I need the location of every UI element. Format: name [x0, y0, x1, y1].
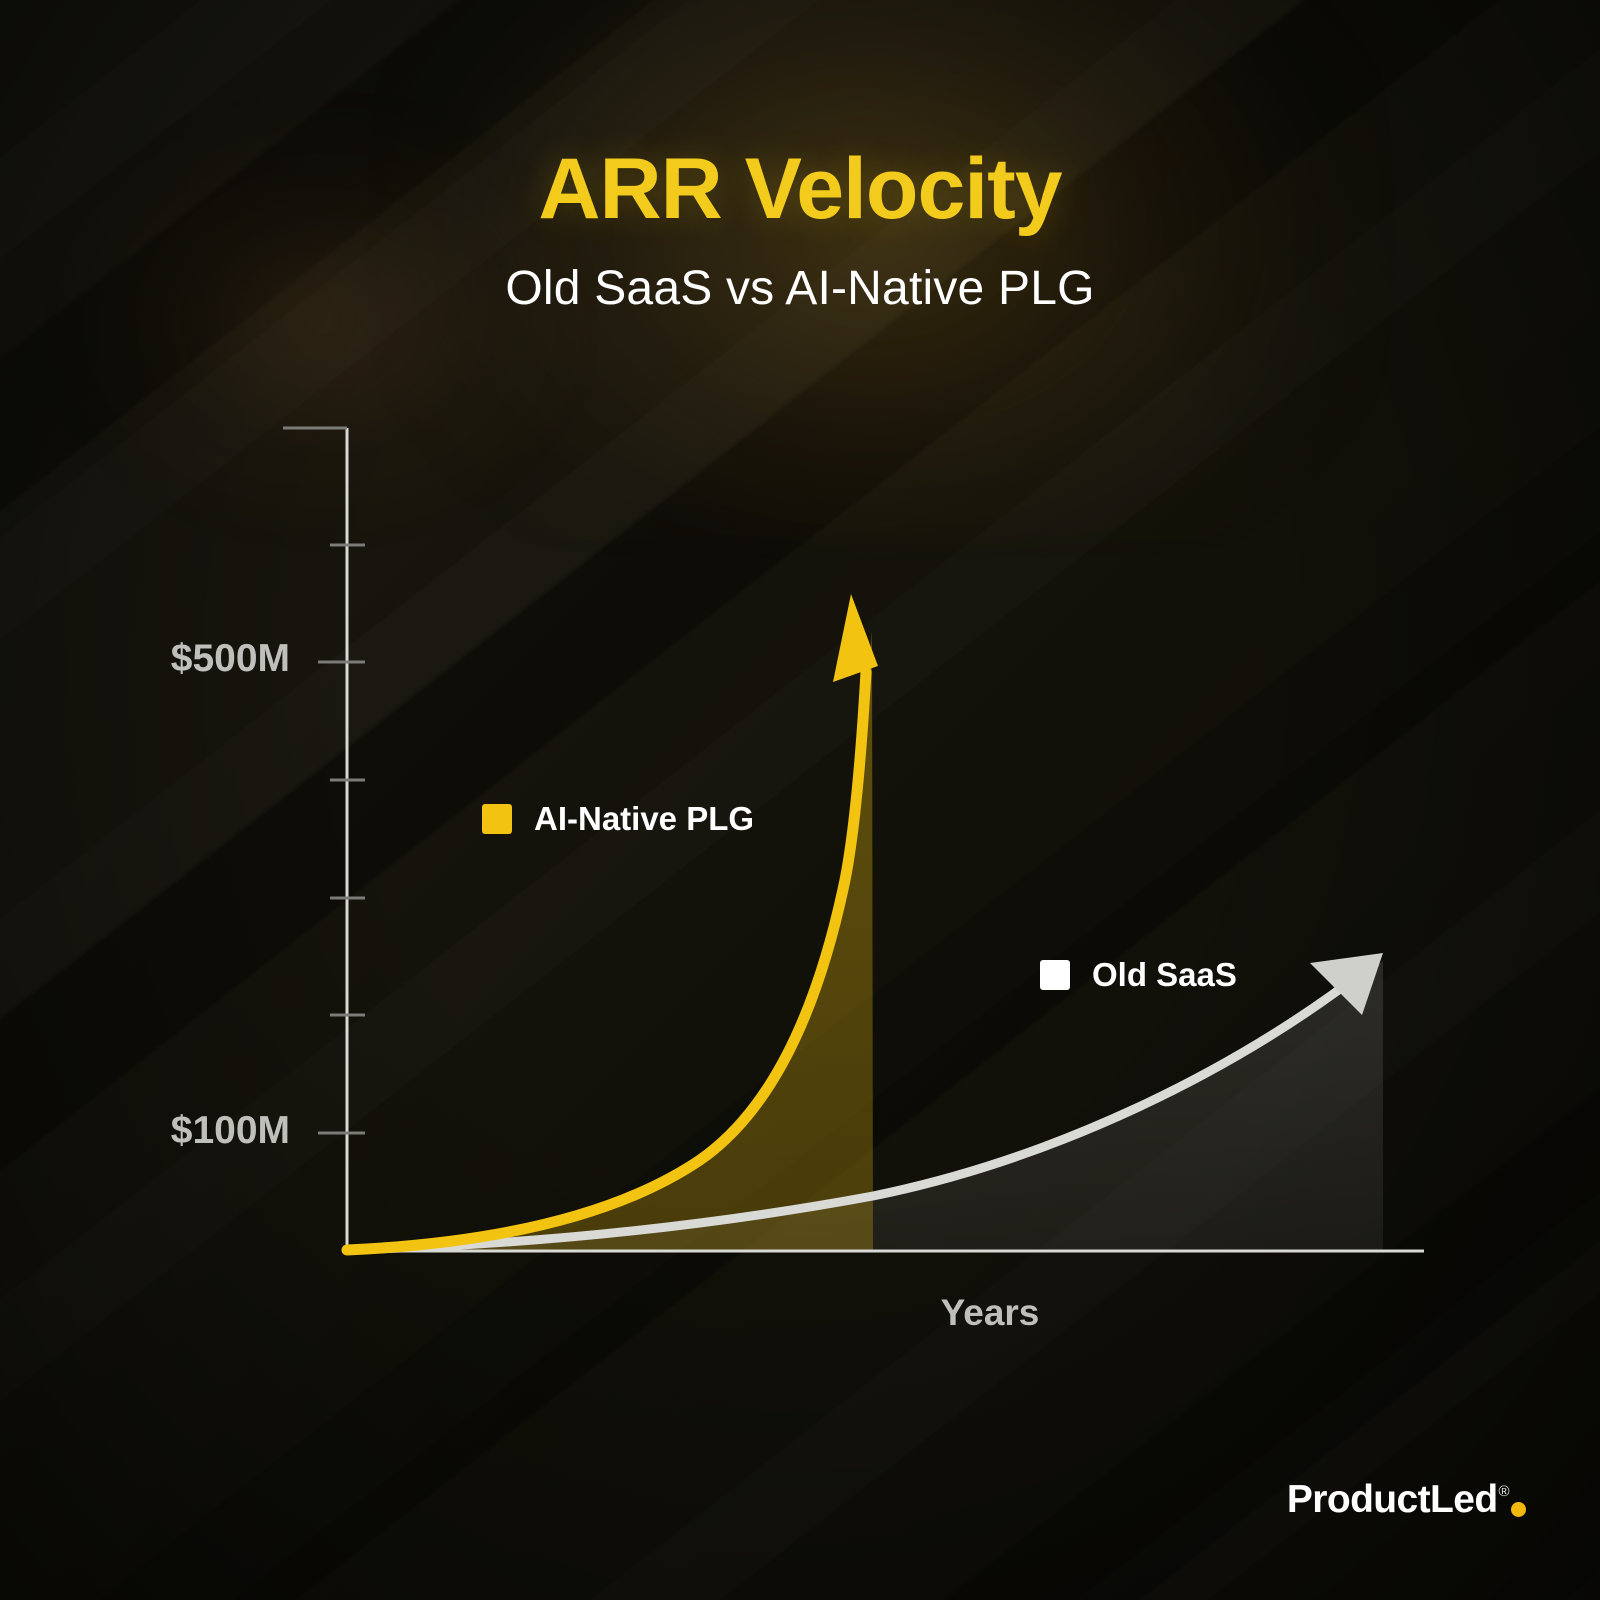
registered-trademark-icon: ® — [1499, 1483, 1509, 1500]
legend-label-ai-native-plg: AI-Native PLG — [534, 800, 754, 838]
chart-area: $500M $100M Years AI-Native PLG Old SaaS — [0, 0, 1600, 1600]
x-axis-title: Years — [860, 1292, 1120, 1334]
legend-item-old-saas: Old SaaS — [1040, 956, 1237, 994]
logo-dot-icon — [1511, 1502, 1526, 1517]
y-axis-ticks — [283, 428, 365, 1133]
y-axis-tick-label-500m: $500M — [30, 637, 290, 681]
legend-swatch-icon-ai-native-plg — [482, 804, 512, 834]
infographic-canvas: ARR Velocity Old SaaS vs AI-Native PLG — [0, 0, 1600, 1600]
legend-label-old-saas: Old SaaS — [1092, 956, 1237, 994]
chart-svg — [0, 0, 1600, 1600]
ai-native-plg-area-fill — [347, 630, 873, 1250]
legend-swatch-icon-old-saas — [1040, 960, 1070, 990]
y-axis-tick-label-100m: $100M — [30, 1109, 290, 1153]
logo-wordmark: ProductLed — [1287, 1478, 1498, 1522]
productled-logo: ProductLed ® — [1287, 1478, 1526, 1522]
legend-item-ai-native-plg: AI-Native PLG — [482, 800, 754, 838]
